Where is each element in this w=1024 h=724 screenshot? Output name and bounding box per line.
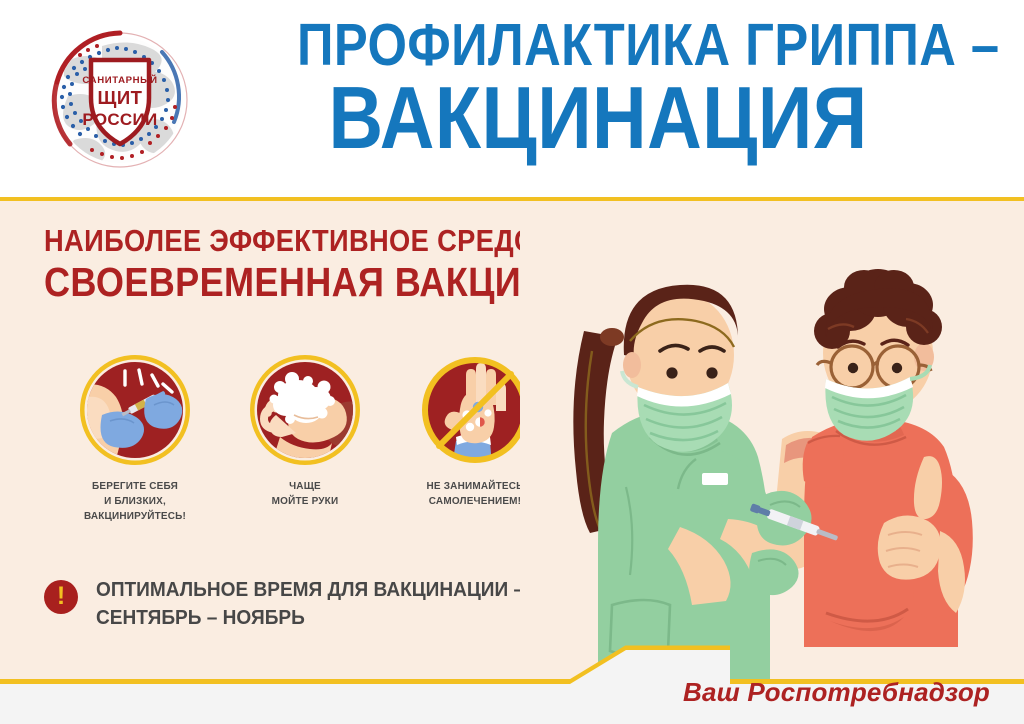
caption-line-1: ЧАЩЕ xyxy=(289,480,321,492)
prevention-card-wash-hands: ЧАЩЕ МОЙТЕ РУКИ xyxy=(230,355,380,509)
wash-hands-icon xyxy=(250,355,360,465)
prevention-caption-vaccination: БЕРЕГИТЕ СЕБЯ И БЛИЗКИХ, ВАКЦИНИРУЙТЕСЬ! xyxy=(64,479,207,525)
prevention-icons-row: БЕРЕГИТЕ СЕБЯ И БЛИЗКИХ, ВАКЦИНИРУЙТЕСЬ! xyxy=(44,355,544,545)
exclamation-mark-icon: ! xyxy=(44,580,78,614)
rospotrebnadzor-brand: Ваш Роспотребнадзор xyxy=(683,677,990,708)
no-self-medication-icon xyxy=(420,355,530,465)
logo-shield-line-1: САНИТАРНЫЙ xyxy=(82,74,157,86)
caption-line-2: МОЙТЕ РУКИ xyxy=(272,495,339,507)
prevention-card-vaccination: БЕРЕГИТЕ СЕБЯ И БЛИЗКИХ, ВАКЦИНИРУЙТЕСЬ! xyxy=(60,355,210,525)
flu-vaccination-poster: САНИТАРНЫЙ ЩИТ РОССИИ ПРОФИЛАКТИКА ГРИПП… xyxy=(0,0,1024,724)
vaccination-syringe-icon xyxy=(80,355,190,465)
note-line-2: СЕНТЯБРЬ – НОЯБРЬ xyxy=(96,604,570,632)
note-line-1: ОПТИМАЛЬНОЕ ВРЕМЯ ДЛЯ ВАКЦИНАЦИИ – xyxy=(96,576,570,604)
poster-header: САНИТАРНЫЙ ЩИТ РОССИИ ПРОФИЛАКТИКА ГРИПП… xyxy=(0,0,1024,200)
poster-title: ПРОФИЛАКТИКА ГРИППА – ВАКЦИНАЦИЯ xyxy=(248,6,948,191)
title-line-1: ПРОФИЛАКТИКА ГРИППА – xyxy=(297,6,899,72)
caption-line-3: ВАКЦИНИРУЙТЕСЬ! xyxy=(84,510,186,522)
caption-line-2: И БЛИЗКИХ, xyxy=(104,495,166,507)
caption-line-1: НЕ ЗАНИМАЙТЕСЬ xyxy=(427,480,524,492)
sanitary-shield-of-russia-logo: САНИТАРНЫЙ ЩИТ РОССИИ xyxy=(44,24,196,176)
exclamation-glyph: ! xyxy=(44,580,78,614)
title-line-2: ВАКЦИНАЦИЯ xyxy=(297,72,899,159)
logo-shield-line-3: РОССИИ xyxy=(82,110,157,129)
caption-line-2: САМОЛЕЧЕНИЕМ! xyxy=(429,495,521,507)
caption-line-1: БЕРЕГИТЕ СЕБЯ xyxy=(92,480,178,492)
optimal-time-note-text: ОПТИМАЛЬНОЕ ВРЕМЯ ДЛЯ ВАКЦИНАЦИИ – СЕНТЯ… xyxy=(96,576,570,631)
poster-body: НАИБОЛЕЕ ЭФФЕКТИВНОЕ СРЕДСТВО ЗАЩИТЫ ОТ … xyxy=(0,201,1024,682)
nurse-vaccinating-patient-illustration xyxy=(520,201,1024,682)
prevention-caption-wash-hands: ЧАЩЕ МОЙТЕ РУКИ xyxy=(234,479,377,509)
logo-shield-line-2: ЩИТ xyxy=(98,87,143,108)
